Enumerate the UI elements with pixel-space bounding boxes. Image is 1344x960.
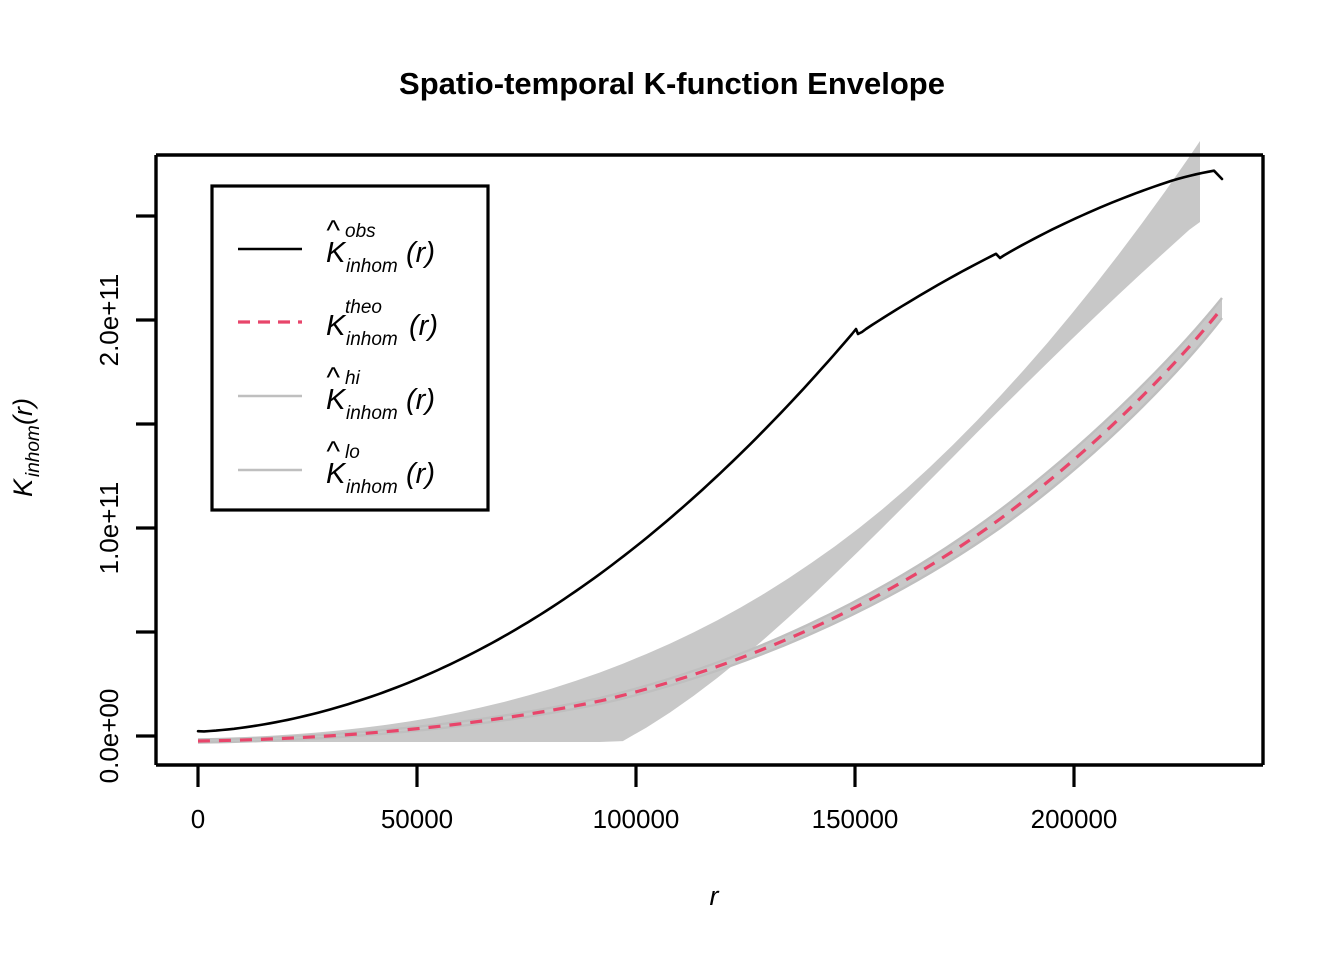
y-axis-title-base: K <box>8 478 38 497</box>
legend-label-theoretical-superscript: theo <box>345 297 382 318</box>
legend-label-hi-subscript: inhom <box>346 403 398 424</box>
x-tick-label-4: 200000 <box>1031 804 1118 834</box>
x-tick-label-0: 0 <box>191 804 205 834</box>
page-title: Spatio-temporal K-function Envelope <box>399 66 945 101</box>
k-function-envelope-plot: Spatio-temporal K-function Envelope <box>0 0 1344 960</box>
legend[interactable]: K ^ obs inhom (r) K theo inhom (r) K ^ h… <box>212 186 488 510</box>
y-tick-label-0: 0.0e+00 <box>94 689 124 784</box>
chart-root: Spatio-temporal K-function Envelope <box>0 0 1344 960</box>
legend-label-lo-argument: (r) <box>406 458 435 490</box>
legend-label-hi-superscript: hi <box>345 368 361 389</box>
y-axis-title-argument: (r) <box>8 398 38 425</box>
x-tick-label-3: 150000 <box>812 804 899 834</box>
legend-label-lo-superscript: lo <box>345 442 360 463</box>
legend-label-hi-argument: (r) <box>406 384 435 416</box>
legend-label-observed-argument: (r) <box>406 237 435 269</box>
legend-hat-lo: ^ <box>326 436 340 468</box>
legend-label-theoretical-subscript: inhom <box>346 329 398 350</box>
x-tick-label-2: 100000 <box>593 804 680 834</box>
legend-hat-hi: ^ <box>326 362 340 394</box>
legend-hat-observed: ^ <box>326 215 340 247</box>
y-tick-label-1: 1.0e+11 <box>94 482 124 575</box>
legend-label-theoretical-base: K <box>326 310 347 342</box>
x-axis-title: r <box>710 881 720 911</box>
legend-label-theoretical-argument: (r) <box>409 310 438 342</box>
legend-label-observed-superscript: obs <box>345 221 376 242</box>
legend-label-observed-subscript: inhom <box>346 256 398 277</box>
y-tick-label-2: 2.0e+11 <box>94 274 124 367</box>
legend-label-lo-subscript: inhom <box>346 477 398 498</box>
x-tick-label-1: 50000 <box>381 804 453 834</box>
y-axis-title-subscript: inhom <box>23 425 44 477</box>
